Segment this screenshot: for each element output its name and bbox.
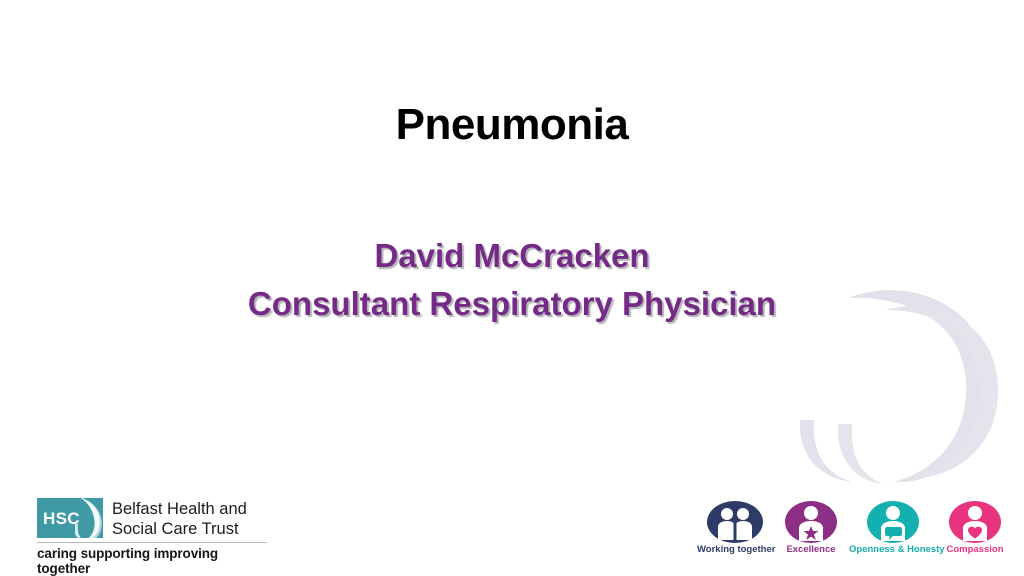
openness-honesty-icon [862,500,924,544]
hsc-badge: HSC [37,498,103,538]
excellence-icon [780,500,842,544]
working-together-icon [704,500,766,544]
slide-title: Pneumonia [0,100,1024,150]
trust-name-line2: Social Care Trust [112,519,247,539]
presenter-name: David McCracken [0,232,1024,280]
logo-top-row: HSC Belfast Health and Social Care Trust [37,498,267,539]
trust-name-line1: Belfast Health and [112,499,247,519]
trust-values-row: Working together Excellence Openness & H… [697,500,1013,555]
presenter-role: Consultant Respiratory Physician [0,280,1024,328]
hsc-belfast-trust-logo: HSC Belfast Health and Social Care Trust… [37,498,267,576]
compassion-icon [944,500,1006,544]
value-working-together: Working together [697,500,773,555]
value-label-openness-honesty: Openness & Honesty [849,545,937,555]
value-excellence: Excellence [773,500,849,555]
value-compassion: Compassion [937,500,1013,555]
slide-subtitle: David McCracken Consultant Respiratory P… [0,232,1024,328]
trust-name: Belfast Health and Social Care Trust [112,498,247,539]
logo-tagline: caring supporting improving together [37,546,267,576]
logo-divider [37,542,267,543]
value-label-compassion: Compassion [937,545,1013,555]
value-label-excellence: Excellence [773,545,849,555]
slide-canvas: Pneumonia David McCracken Consultant Res… [0,0,1024,576]
value-label-working-together: Working together [697,545,773,555]
hsc-badge-swoosh-icon [75,498,103,538]
value-openness-honesty: Openness & Honesty [849,500,937,555]
